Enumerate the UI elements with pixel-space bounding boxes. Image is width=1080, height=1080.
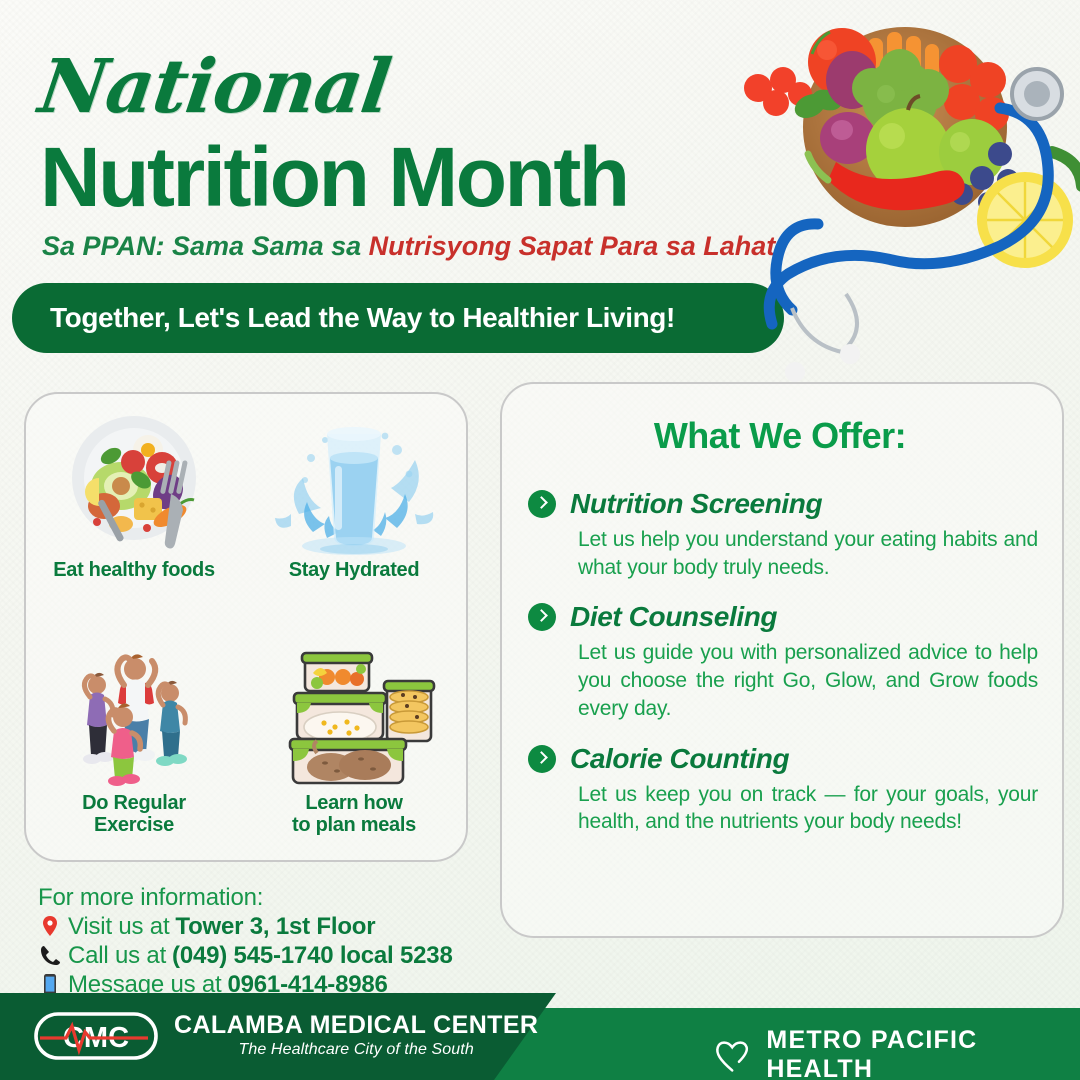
offer-item-diet-counseling: Diet Counseling Let us guide you with pe… <box>528 601 1038 722</box>
tagline-prefix: Sa PPAN: Sama Sama sa <box>42 231 369 261</box>
cmc-text: CALAMBA MEDICAL CENTER The Healthcare Ci… <box>174 1013 538 1059</box>
contact-value: Tower 3, 1st Floor <box>175 913 375 941</box>
offer-name: Calorie Counting <box>570 743 789 775</box>
metro-pacific-health-logo: METRO PACIFIC HEALTH <box>712 1026 1080 1080</box>
tip-label: Eat healthy foods <box>53 560 215 582</box>
tip-label: Do Regular Exercise <box>82 793 186 836</box>
location-pin-icon <box>38 914 62 940</box>
tip-eat-healthy-foods: Eat healthy foods <box>24 392 244 625</box>
tip-label: Learn how to plan meals <box>292 793 416 836</box>
contact-row-phone: Call us at (049) 545-1740 local 5238 <box>38 942 508 970</box>
contact-row-address: Visit us at Tower 3, 1st Floor <box>38 913 508 941</box>
offer-name: Nutrition Screening <box>570 488 822 520</box>
poster-canvas: National Nutrition Month Sa PPAN: Sama S… <box>0 0 1080 1080</box>
chevron-right-icon <box>528 490 556 518</box>
page-title-main: Nutrition Month <box>40 135 628 219</box>
cmc-monogram-icon: CMC <box>32 1008 160 1064</box>
cmc-tagline: The Healthcare City of the South <box>174 1041 538 1059</box>
offer-description: Let us help you understand your eating h… <box>578 526 1038 581</box>
meal-prep-containers-icon <box>269 639 439 789</box>
telephone-icon <box>38 943 62 969</box>
headline-banner: Together, Let's Lead the Way to Healthie… <box>12 283 784 353</box>
chevron-right-icon <box>528 745 556 773</box>
offer-head: Nutrition Screening <box>528 488 1038 520</box>
offer-description: Let us keep you on track — for your goal… <box>578 781 1038 836</box>
offer-description: Let us guide you with personalized advic… <box>578 639 1038 722</box>
contact-text: Visit us at <box>68 913 169 941</box>
contact-text: Call us at <box>68 942 166 970</box>
offer-list: Nutrition Screening Let us help you unde… <box>528 488 1038 856</box>
banner-text: Together, Let's Lead the Way to Healthie… <box>12 302 675 334</box>
water-glass-splash-icon <box>269 406 439 556</box>
contact-value: (049) 545-1740 local 5238 <box>172 942 453 970</box>
offer-head: Diet Counseling <box>528 601 1038 633</box>
tip-stay-hydrated: Stay Hydrated <box>244 392 464 625</box>
offer-name: Diet Counseling <box>570 601 777 633</box>
heart-outline-icon <box>712 1034 752 1076</box>
offer-item-nutrition-screening: Nutrition Screening Let us help you unde… <box>528 488 1038 581</box>
tip-learn-plan-meals: Learn how to plan meals <box>244 625 464 858</box>
offer-item-calorie-counting: Calorie Counting Let us keep you on trac… <box>528 743 1038 836</box>
tip-label: Stay Hydrated <box>289 560 420 582</box>
page-title-script: National <box>34 44 395 130</box>
tips-grid: Eat healthy foods <box>24 392 464 858</box>
cmc-logo: CMC CALAMBA MEDICAL CENTER The Healthcar… <box>32 1008 538 1064</box>
healthy-plate-icon <box>49 406 219 556</box>
contact-heading: For more information: <box>38 884 508 912</box>
tip-do-regular-exercise: Do Regular Exercise <box>24 625 244 858</box>
cmc-name: CALAMBA MEDICAL CENTER <box>174 1011 538 1039</box>
contact-block: For more information: Visit us at Tower … <box>38 884 508 999</box>
chevron-right-icon <box>528 603 556 631</box>
people-stretching-icon <box>49 639 219 789</box>
metro-pacific-health-name: METRO PACIFIC HEALTH <box>766 1026 1080 1080</box>
vegetable-bowl-stethoscope-icon <box>700 2 1080 392</box>
offer-head: Calorie Counting <box>528 743 1038 775</box>
offer-heading: What We Offer: <box>500 415 1060 457</box>
tagline: Sa PPAN: Sama Sama sa Nutrisyong Sapat P… <box>42 231 784 262</box>
